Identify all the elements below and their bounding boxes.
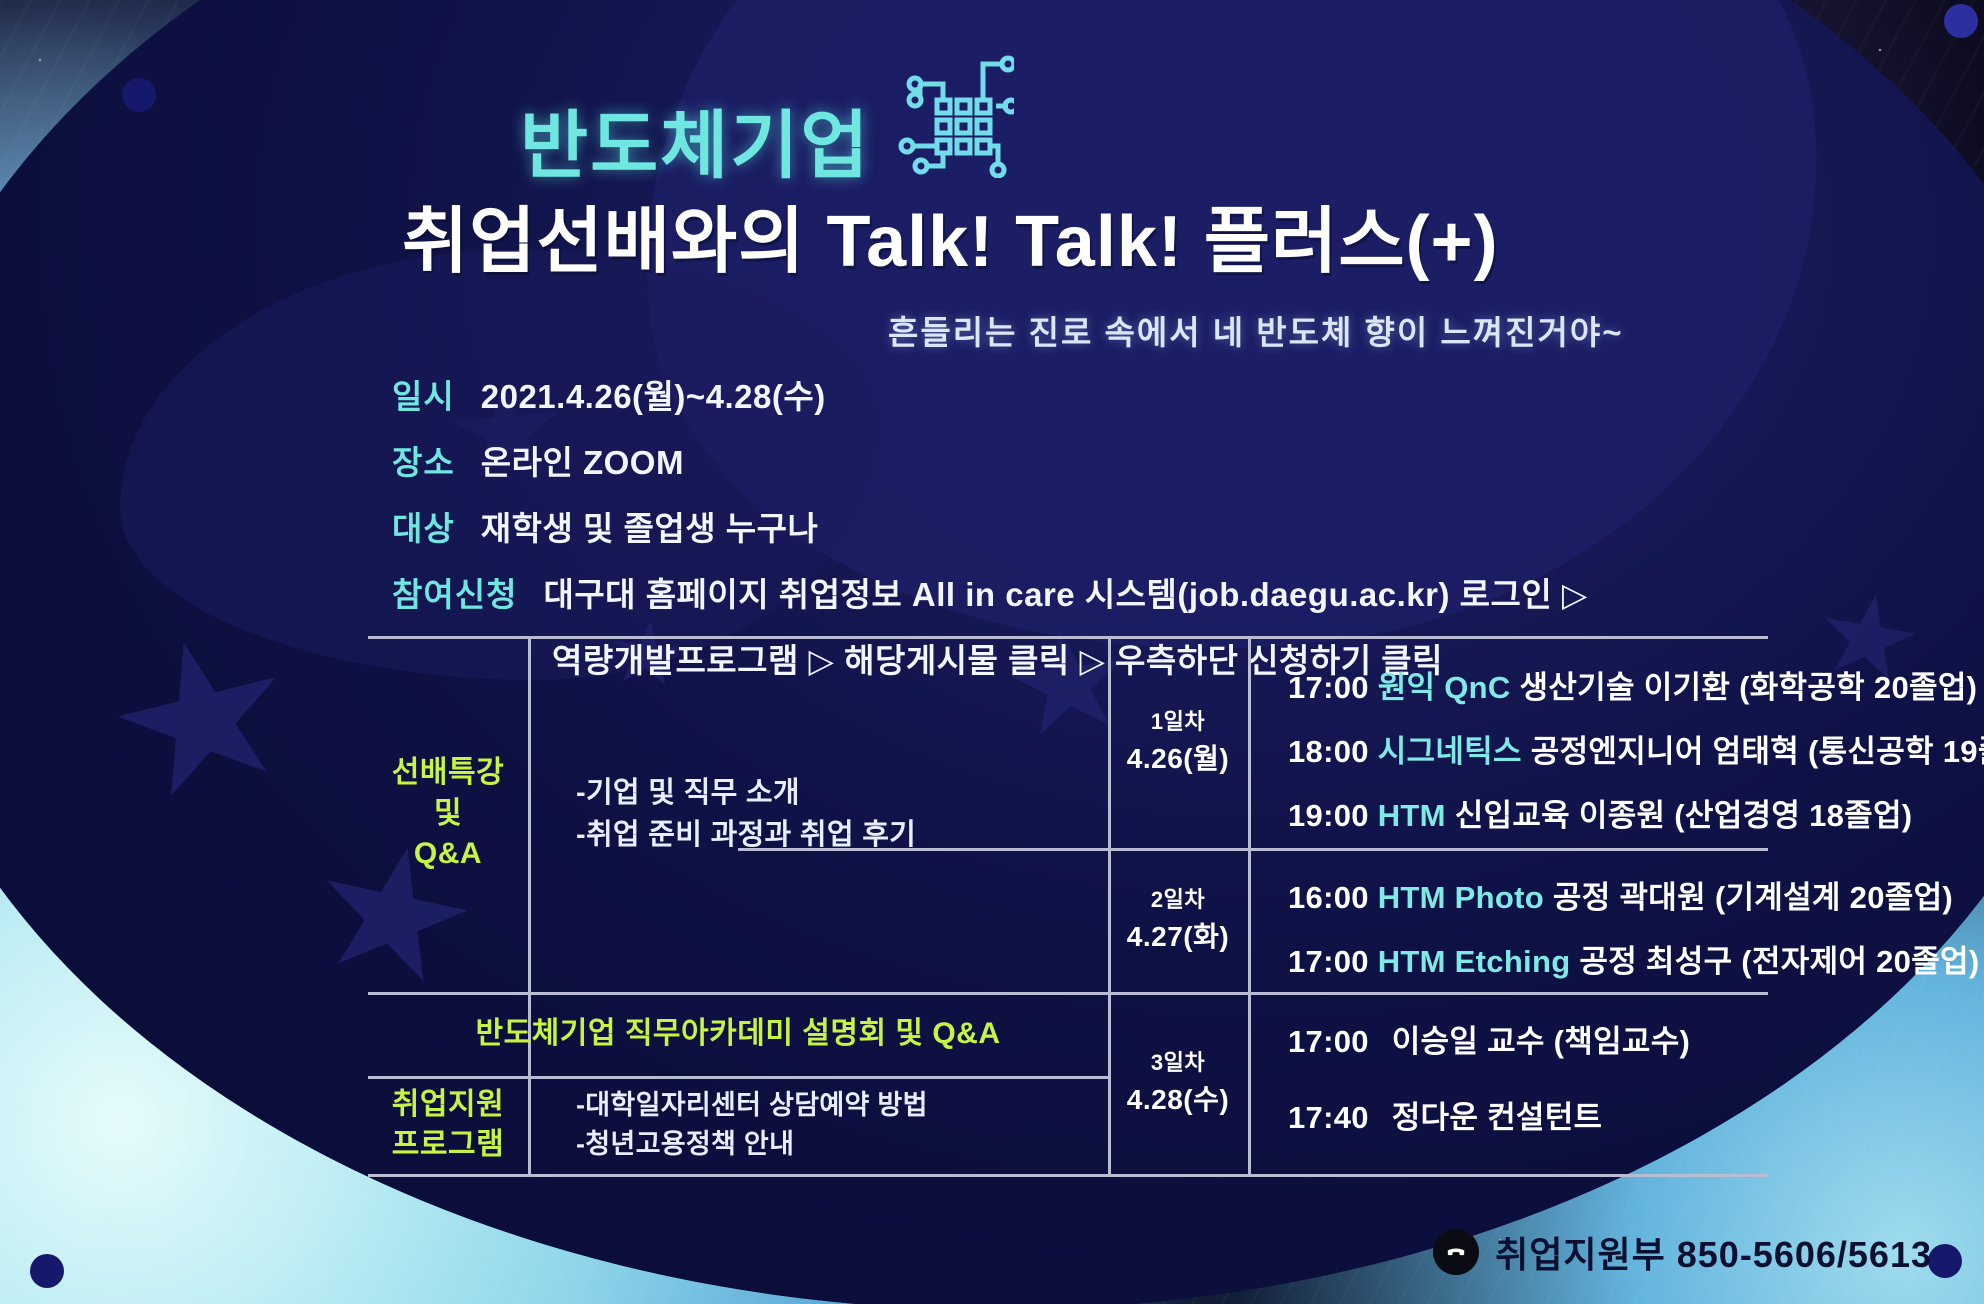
category-line: 취업지원: [392, 1085, 504, 1126]
category-2-label: 반도체기업 직무아카데미 설명회 및 Q&A: [475, 1014, 1000, 1055]
session-item: 17:00 이승일 교수 (책임교수): [1288, 1016, 1690, 1061]
category-line: 프로그램: [392, 1125, 504, 1166]
description-line: -대학일자리센터 상담예약 방법: [576, 1086, 928, 1125]
day-number: 1일차: [1127, 705, 1229, 738]
day-date: 4.26(월): [1127, 738, 1229, 780]
category-line: 선배특강: [392, 753, 504, 794]
info-label: 장소: [392, 436, 455, 484]
table-cell-category-2: 반도체기업 직무아카데미 설명회 및 Q&A: [368, 992, 1108, 1076]
page-tagline: 흔들리는 진로 속에서 네 반도체 향이 느껴진거야~: [888, 306, 1623, 354]
info-value: 온라인 ZOOM: [481, 436, 684, 484]
phone-icon: [1433, 1229, 1479, 1275]
table-cell-category-1: 선배특강 및 Q&A: [368, 636, 528, 992]
session-item: 17:40 정다운 컨설턴트: [1288, 1092, 1602, 1137]
session-time: 19:00: [1288, 798, 1369, 833]
session-org: HTM Etching: [1378, 944, 1571, 979]
session-item: 17:00 원익 QnC 생산기술 이기환 (화학공학 20졸업): [1288, 662, 1977, 707]
session-detail: 공정 곽대원 (기계설계 20졸업): [1553, 880, 1953, 915]
session-item: 16:00 HTM Photo 공정 곽대원 (기계설계 20졸업): [1288, 872, 1953, 917]
session-org: HTM Photo: [1378, 880, 1544, 915]
footer-contact: 취업지원부 850-5606/5613: [1433, 1226, 1932, 1278]
table-cell-category-3: 취업지원 프로그램: [368, 1076, 528, 1174]
session-item: 19:00 HTM 신입교육 이종원 (산업경영 18졸업): [1288, 790, 1912, 835]
day-date: 4.27(화): [1127, 916, 1229, 958]
day-number: 3일차: [1127, 1046, 1229, 1079]
session-item: 18:00 시그네틱스 공정엔지니어 엄태혁 (통신공학 19졸업): [1288, 726, 1984, 771]
session-time: 18:00: [1288, 734, 1369, 769]
session-org: 시그네틱스: [1378, 734, 1522, 769]
session-time: 17:00: [1288, 1024, 1369, 1059]
info-value: 재학생 및 졸업생 누구나: [481, 502, 819, 550]
category-line: 및: [392, 794, 504, 835]
session-time: 17:00: [1288, 670, 1369, 705]
session-detail: 정다운 컨설턴트: [1392, 1100, 1603, 1135]
description-line: -청년고용정책 안내: [576, 1125, 928, 1164]
page-title: 취업선배와의 Talk! Talk! 플러스(+): [402, 182, 1499, 287]
info-row-audience: 대상 재학생 및 졸업생 누구나: [392, 502, 1692, 550]
info-value: 2021.4.26(월)~4.28(수): [481, 370, 826, 418]
info-label: 참여신청: [392, 568, 517, 616]
circuit-chip-icon: [884, 48, 1014, 178]
session-detail: 공정 최성구 (전자제어 20졸업): [1579, 944, 1979, 979]
session-item: 17:00 HTM Etching 공정 최성구 (전자제어 20졸업): [1288, 936, 1979, 981]
schedule-table: 선배특강 및 Q&A -기업 및 직무 소개 -취업 준비 과정과 취업 후기 …: [368, 636, 1768, 1176]
corner-dot: [1928, 1244, 1962, 1278]
session-org: 원익 QnC: [1378, 670, 1511, 705]
day-date: 4.28(수): [1127, 1079, 1229, 1121]
table-cell-description-3: -대학일자리센터 상담예약 방법 -청년고용정책 안내: [528, 1076, 1108, 1174]
page-eyebrow-title: 반도체기업: [520, 86, 870, 193]
info-row-registration[interactable]: 참여신청 대구대 홈페이지 취업정보 All in care 시스템(job.d…: [392, 568, 1692, 616]
description-line: -취업 준비 과정과 취업 후기: [576, 814, 916, 856]
info-row-place: 장소 온라인 ZOOM: [392, 436, 1692, 484]
session-time: 17:00: [1288, 944, 1369, 979]
day-number: 2일차: [1127, 883, 1229, 916]
contact-text: 취업지원부 850-5606/5613: [1495, 1226, 1932, 1278]
session-detail: 신입교육 이종원 (산업경영 18졸업): [1455, 798, 1913, 833]
table-column-divider: [1248, 636, 1251, 1174]
session-time: 17:40: [1288, 1100, 1369, 1135]
info-label: 일시: [392, 370, 455, 418]
info-value: 대구대 홈페이지 취업정보 All in care 시스템(job.daegu.…: [543, 568, 1587, 616]
corner-dot: [122, 78, 156, 112]
table-cell-day-1: 1일차 4.26(월): [1108, 636, 1248, 848]
session-detail: 공정엔지니어 엄태혁 (통신공학 19졸업): [1531, 734, 1984, 769]
description-line: -기업 및 직무 소개: [576, 772, 916, 814]
table-cell-day-2: 2일차 4.27(화): [1108, 848, 1248, 992]
session-detail: 생산기술 이기환 (화학공학 20졸업): [1520, 670, 1978, 705]
info-label: 대상: [392, 502, 455, 550]
corner-dot: [1944, 4, 1978, 38]
table-bottom-border: [368, 1174, 1768, 1177]
poster-canvas: 반도체기업 취업선배와의 Talk!: [0, 0, 1984, 1304]
corner-dot: [30, 1254, 64, 1288]
session-time: 16:00: [1288, 880, 1369, 915]
session-org: HTM: [1378, 798, 1446, 833]
table-cell-description-1: -기업 및 직무 소개 -취업 준비 과정과 취업 후기: [528, 636, 1108, 992]
table-cell-day-3: 3일차 4.28(수): [1108, 992, 1248, 1174]
category-line: Q&A: [392, 834, 504, 875]
info-row-date: 일시 2021.4.26(월)~4.28(수): [392, 370, 1692, 418]
session-detail: 이승일 교수 (책임교수): [1392, 1024, 1690, 1059]
